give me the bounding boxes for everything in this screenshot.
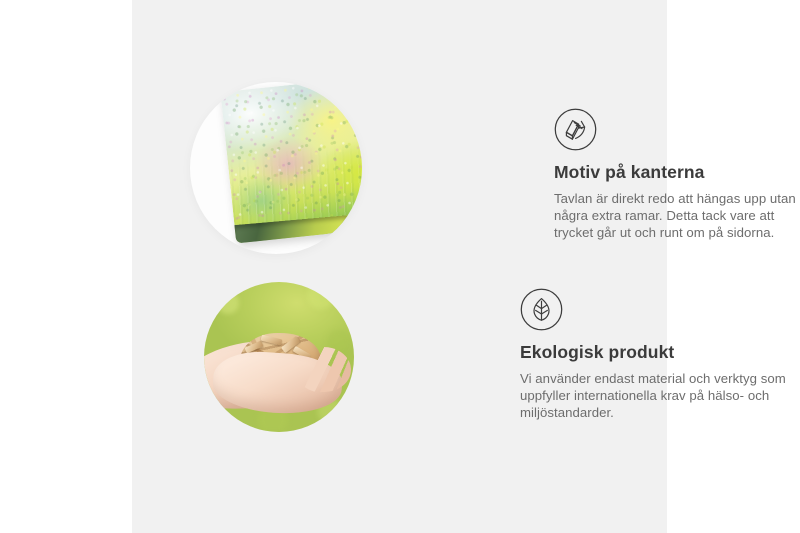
feature-title: Motiv på kanterna <box>554 162 800 183</box>
feature-description: Tavlan är direkt redo att hängas upp uta… <box>554 190 800 242</box>
canvas-photo-clip <box>190 82 362 254</box>
feature-title: Ekologisk produkt <box>520 342 790 363</box>
feature-block-canvas-edge: Motiv på kanterna Tavlan är direkt redo … <box>190 82 800 254</box>
canvas-print-corner <box>220 82 362 243</box>
feature-description: Vi använder endast material och verktyg … <box>520 370 790 422</box>
product-feature-panel: Motiv på kanterna Tavlan är direkt redo … <box>0 0 800 533</box>
wood-chip <box>261 334 283 345</box>
feature-image-canvas-print <box>190 82 362 254</box>
feature-text-eco-product: Ekologisk produkt Vi använder endast mat… <box>520 288 790 422</box>
content-panel <box>132 0 667 533</box>
wrapped-canvas-edge-icon <box>554 108 597 151</box>
feature-image-wood-chips <box>204 282 354 432</box>
feature-block-eco-product: Ekologisk produkt Vi använder endast mat… <box>204 272 790 432</box>
wood-chips-photo <box>204 282 354 432</box>
feature-text-canvas-edge: Motiv på kanterna Tavlan är direkt redo … <box>554 108 800 242</box>
leaf-icon <box>520 288 563 331</box>
